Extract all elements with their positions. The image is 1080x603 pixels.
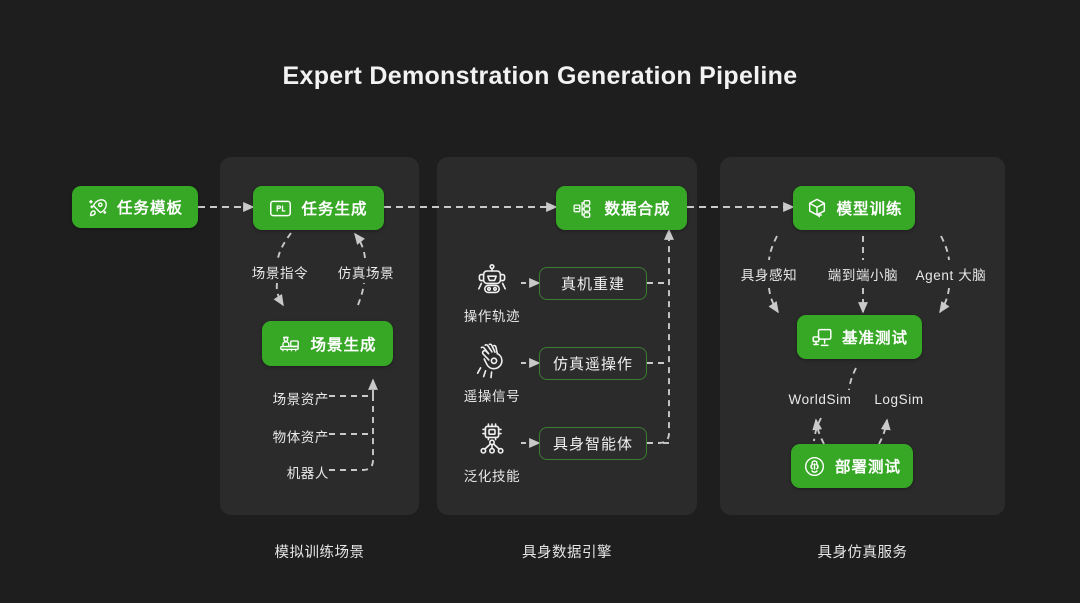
edge-label-robot: 机器人 <box>245 462 329 482</box>
edge-label-object-assets: 物体资产 <box>245 426 329 446</box>
panel-caption-3: 具身仿真服务 <box>720 541 1005 562</box>
pl-frame-icon <box>269 198 292 219</box>
robot-icon <box>472 261 512 301</box>
edge-label-scene-instruction: 场景指令 <box>238 262 322 282</box>
edge-label-sim-scene: 仿真场景 <box>324 262 408 282</box>
node-model-training[interactable]: 模型训练 <box>793 186 915 230</box>
data-nodes-icon <box>572 198 595 219</box>
node-label: 真机重建 <box>561 273 625 294</box>
node-benchmark-test[interactable]: 基准测试 <box>797 315 922 359</box>
rocket-icon <box>87 197 108 218</box>
page-title: Expert Demonstration Generation Pipeline <box>0 62 1080 91</box>
node-label: 场景生成 <box>310 333 376 355</box>
edge-label-agent-brain: Agent 大脑 <box>904 264 998 284</box>
node-label: 任务模板 <box>117 196 183 218</box>
node-label: 仿真遥操作 <box>553 353 633 374</box>
brain-circle-icon <box>803 455 826 478</box>
edge-label-embodied-perception: 具身感知 <box>727 264 811 284</box>
node-task-generation[interactable]: 任务生成 <box>253 186 384 230</box>
edge-label-worldsim: WorldSim <box>773 392 867 407</box>
edge-label-end-to-end-cerebellum: 端到端小脑 <box>814 264 912 284</box>
node-real-machine-reconstruction[interactable]: 真机重建 <box>539 267 647 300</box>
node-sim-teleoperation[interactable]: 仿真遥操作 <box>539 347 647 380</box>
node-scene-generation[interactable]: 场景生成 <box>262 321 393 366</box>
chip-network-icon <box>472 421 512 461</box>
node-embodied-agent[interactable]: 具身智能体 <box>539 427 647 460</box>
node-label: 模型训练 <box>837 197 903 219</box>
source-label-generalization-skill: 泛化技能 <box>448 465 536 485</box>
cube-arrow-icon <box>806 197 828 219</box>
gloves-icon <box>472 341 512 381</box>
node-label: 数据合成 <box>604 197 670 219</box>
node-label: 具身智能体 <box>553 433 633 454</box>
monitor-icon <box>811 327 833 348</box>
source-label-operation-trajectory: 操作轨迹 <box>448 305 536 325</box>
node-data-synthesis[interactable]: 数据合成 <box>556 186 687 230</box>
source-label-teleop-signal: 遥操信号 <box>448 385 536 405</box>
edge-label-scene-assets: 场景资产 <box>245 388 329 408</box>
node-label: 任务生成 <box>301 197 367 219</box>
worker-conveyor-icon <box>278 333 301 355</box>
node-label: 基准测试 <box>842 326 908 348</box>
node-label: 部署测试 <box>835 455 901 477</box>
panel-caption-2: 具身数据引擎 <box>437 541 697 562</box>
panel-caption-1: 模拟训练场景 <box>220 541 419 562</box>
node-deploy-test[interactable]: 部署测试 <box>791 444 913 488</box>
edge-label-logsim: LogSim <box>859 392 939 407</box>
pipeline-diagram: Expert Demonstration Generation Pipeline <box>0 0 1080 603</box>
node-task-template[interactable]: 任务模板 <box>72 186 198 228</box>
